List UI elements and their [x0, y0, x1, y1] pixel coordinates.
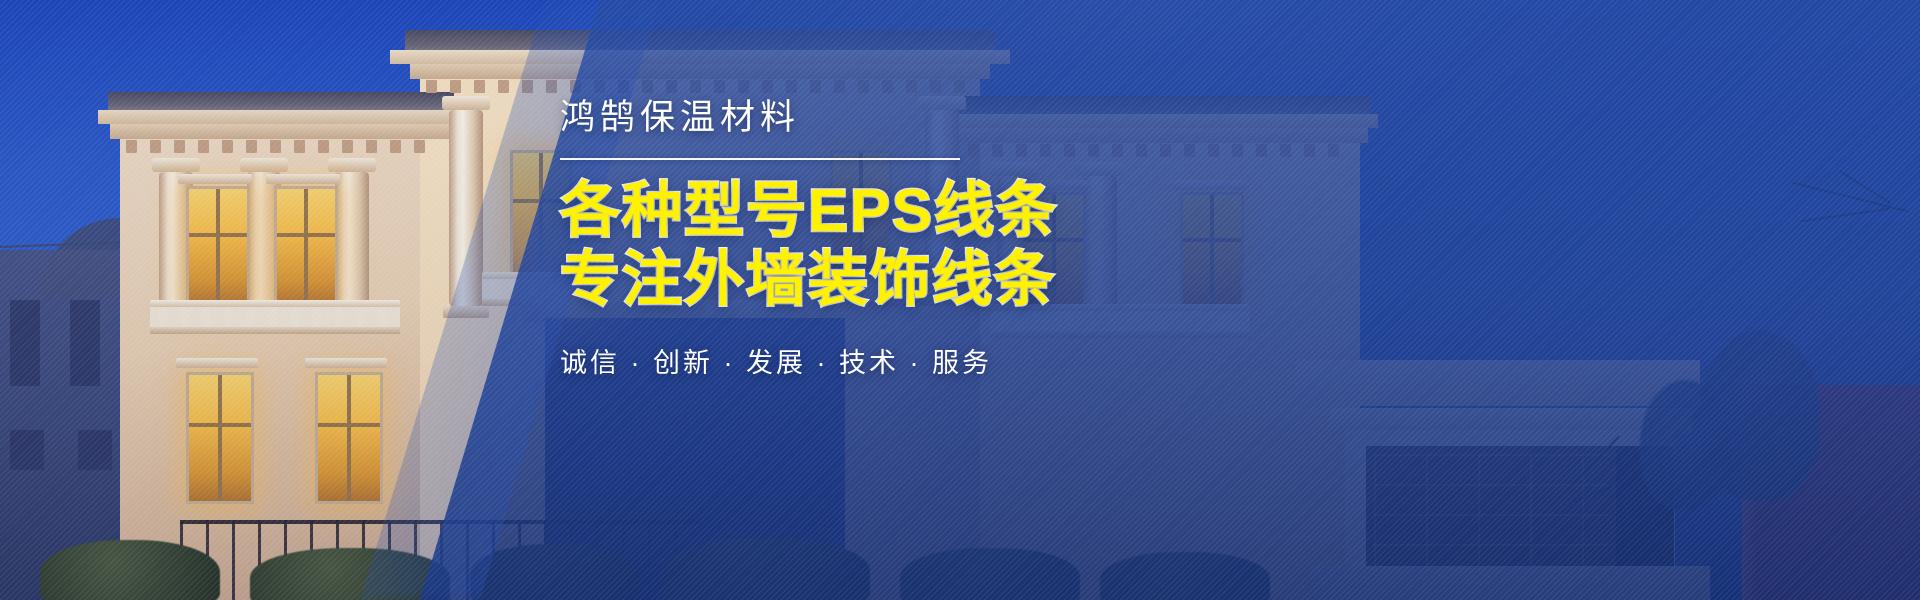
headline-line-1: 各种型号EPS线条	[560, 176, 1460, 246]
title-divider	[560, 158, 960, 160]
brand-name: 鸿鹄保温材料	[560, 96, 1460, 140]
promo-banner: 鸿鹄保温材料 各种型号EPS线条 专注外墙装饰线条 诚信 · 创新 · 发展 ·…	[0, 0, 1920, 600]
tagline: 诚信 · 创新 · 发展 · 技术 · 服务	[560, 341, 1460, 380]
headline-line-2: 专注外墙装饰线条	[560, 245, 1460, 315]
banner-text-block: 鸿鹄保温材料 各种型号EPS线条 专注外墙装饰线条 诚信 · 创新 · 发展 ·…	[560, 96, 1460, 380]
